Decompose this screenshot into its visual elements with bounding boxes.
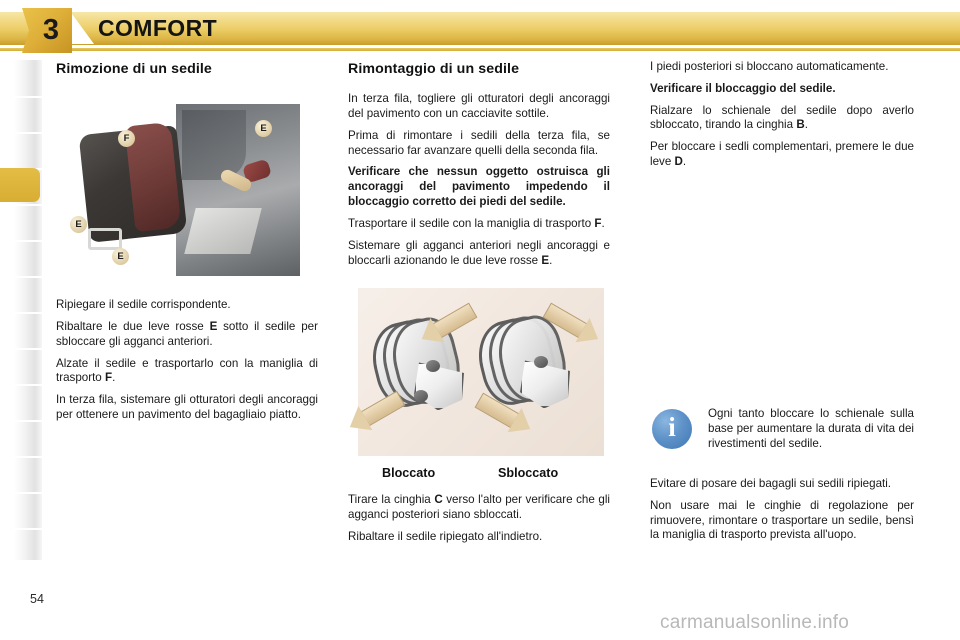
paragraph: Tirare la cinghia C verso l'alto per ver… [348,493,610,523]
column-right: I piedi posteriori si bloccano automatic… [650,60,914,543]
paragraph: In terza fila, sistemare gli otturatori … [56,393,318,423]
page-number: 54 [30,592,44,606]
section-heading-rimontaggio: Rimontaggio di un sedile [348,60,610,78]
info-text: Ogni tanto bloccare lo schienale sulla b… [708,407,914,451]
tab-divider [14,528,42,530]
section-heading-rimozione: Rimozione di un sedile [56,60,318,78]
page-title: COMFORT [98,15,217,42]
lock-illustration [358,288,604,456]
column-center: Rimontaggio di un sedile In terza fila, … [348,60,610,545]
tab-divider [14,384,42,386]
tab-divider [14,240,42,242]
tab-divider [14,348,42,350]
chapter-number: 3 [35,16,59,45]
column-left: Rimozione di un sedile F E E E Ripiegare… [56,60,318,423]
paragraph: Trasportare il sedile con la maniglia di… [348,217,610,232]
chapter-tab-strip [14,60,42,560]
paragraph: Ribaltare le due leve rosse E sotto il s… [56,320,318,350]
paragraph: Ripiegare il sedile corrispondente. [56,298,318,313]
paragraph: I piedi posteriori si bloccano automatic… [650,60,914,75]
seat-photo-detail [176,104,300,276]
info-icon-glyph: i [668,414,676,441]
tab-divider [14,492,42,494]
watermark: carmanualsonline.info [660,612,849,634]
tab-divider [14,420,42,422]
paragraph: Non usare mai le cinghie di regolazione … [650,499,914,543]
figure-lock-states: Bloccato Sbloccato [348,288,610,483]
paragraph: Ribaltare il sedile ripiegato all'indiet… [348,530,610,545]
callout-label-e1: E [70,216,87,233]
chapter-badge: 3 [22,8,72,53]
sidebar-tab-active-comfort[interactable] [0,168,40,202]
header-rule-white-2 [0,51,960,53]
info-icon: i [652,409,692,449]
paragraph: Evitare di posare dei bagagli sui sedili… [650,477,914,492]
paragraph: Sistemare gli agganci anteriori negli an… [348,239,610,269]
label-sbloccato: Sbloccato [498,465,558,481]
paragraph: Rialzare lo schienale del sedile dopo av… [650,104,914,134]
seat-handle-shape [88,228,122,250]
tab-divider [14,132,42,134]
page-header: 3 COMFORT [0,0,960,60]
paragraph: Prima di rimontare i sedili della terza … [348,129,610,159]
tab-divider [14,312,42,314]
warning-paragraph: Verificare che nessun oggetto ostruisca … [348,165,610,209]
callout-label-e2: E [112,248,129,265]
paragraph: Alzate il sedile e trasportarlo con la m… [56,357,318,387]
bold-note: Verificare il bloccaggio del sedile. [650,82,914,97]
tab-divider [14,96,42,98]
paragraph: Per bloccare i sedli complementari, prem… [650,140,914,170]
lock-label-row: Bloccato Sbloccato [358,465,604,483]
paragraph: In terza fila, togliere gli otturatori d… [348,92,610,122]
label-bloccato: Bloccato [382,465,435,481]
tab-divider [14,276,42,278]
column-right-spacer [650,177,914,389]
tab-divider [14,456,42,458]
figure-seat-removal: F E E E [56,92,306,282]
tab-divider [14,204,42,206]
info-callout-box: i Ogni tanto bloccare lo schienale sulla… [650,407,914,469]
